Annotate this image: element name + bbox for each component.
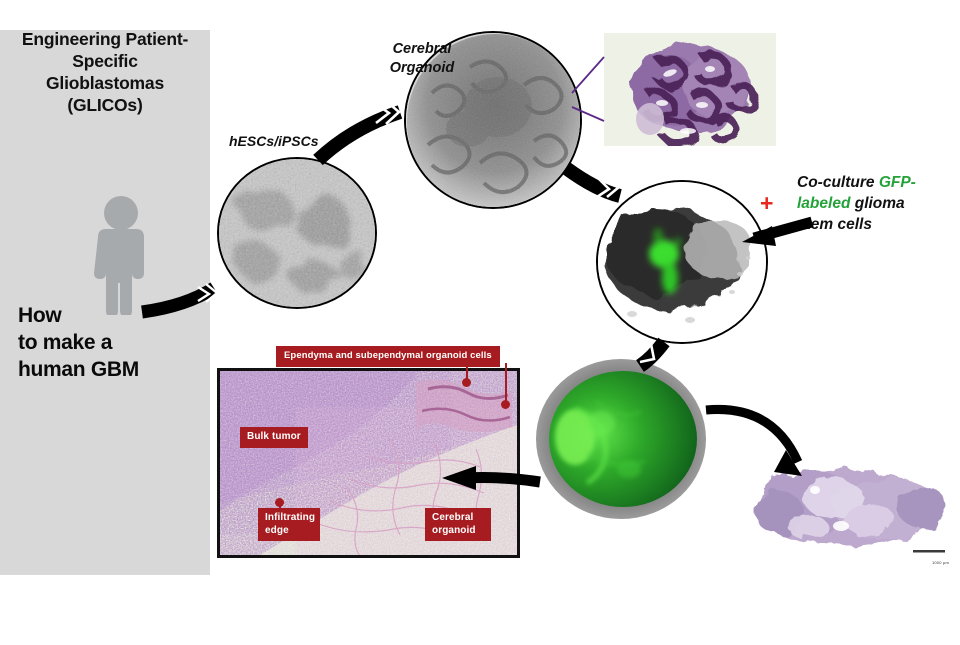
callout-line-ependyma-2 (505, 363, 507, 403)
figure-subtitle-line-1: How (18, 302, 198, 329)
figure-subtitle: How to make a human GBM (18, 302, 198, 383)
he-organoid-section-image (604, 33, 776, 146)
he-glico-section-image: 1000 µm (737, 450, 957, 568)
label-coculture-part3: stem cells (797, 216, 872, 233)
callout-cerebral-organoid: Cerebral organoid (425, 508, 491, 541)
scale-bar-label: 1000 µm (932, 560, 949, 565)
figure-title-line-1: Engineering Patient- (8, 28, 202, 50)
figure-title-line-4: (GLICOs) (8, 94, 202, 116)
callout-ependyma: Ependyma and subependymal organoid cells (276, 346, 500, 367)
figure-title-line-3: Glioblastomas (8, 72, 202, 94)
plus-sign: + (760, 190, 773, 217)
label-cerebral-organoid-line-1: Cerebral (367, 40, 477, 59)
callout-infiltrating-edge: Infiltrating edge (258, 508, 320, 541)
arrow-stem-cells-to-organoid (318, 112, 400, 160)
figure-title-line-2: Specific (8, 50, 202, 72)
label-coculture-part2: glioma (850, 195, 904, 212)
label-cerebral-organoid-line-2: Organoid (367, 59, 477, 78)
arrow-organoid-to-coculture (566, 168, 620, 196)
label-cerebral-organoid: Cerebral Organoid (367, 40, 477, 78)
figure-canvas: Engineering Patient- Specific Glioblasto… (0, 0, 960, 645)
label-coculture: Co-culture GFP- labeled glioma stem cell… (797, 172, 957, 235)
label-coculture-gfp: GFP- (879, 174, 916, 191)
callout-bulk-tumor: Bulk tumor (240, 427, 308, 448)
stem-cell-image (217, 157, 377, 309)
glico-organoid-image (535, 357, 707, 521)
figure-subtitle-line-3: human GBM (18, 356, 198, 383)
label-coculture-part1: Co-culture (797, 174, 879, 191)
person-icon (88, 195, 154, 315)
figure-title: Engineering Patient- Specific Glioblasto… (8, 28, 202, 116)
figure-subtitle-line-2: to make a (18, 329, 198, 356)
connector-line-upper (572, 57, 604, 93)
gfp-coculture-image (596, 180, 768, 344)
label-hescs-ipscs: hESCs/iPSCs (229, 133, 318, 149)
label-coculture-labeled: labeled (797, 195, 850, 212)
